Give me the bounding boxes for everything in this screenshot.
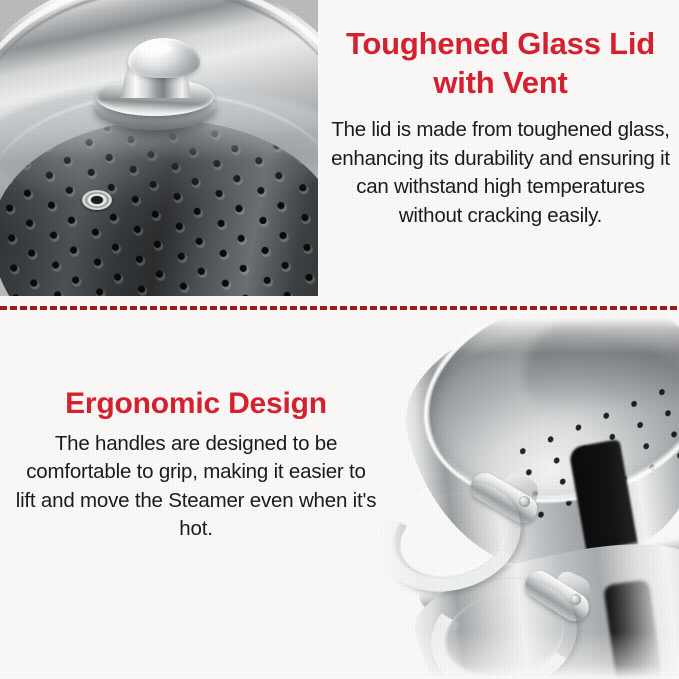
description-line-4: hot. — [0, 515, 398, 543]
panel-title-line-1: Toughened Glass Lid — [346, 26, 655, 61]
panel-description: The lid is made from toughened glass, en… — [322, 116, 679, 230]
infographic-canvas: Toughened Glass Lid with Vent The lid is… — [0, 0, 679, 679]
panel-title: Toughened Glass Lid with Vent — [322, 24, 679, 102]
panel-toughened-glass-lid: Toughened Glass Lid with Vent The lid is… — [322, 24, 679, 230]
glass-lid-photo — [0, 0, 318, 296]
steam-vent-icon — [82, 190, 112, 210]
lower-handle-rivet — [570, 594, 581, 605]
knob-highlight — [141, 42, 173, 55]
panel-title: Ergonomic Design — [0, 386, 398, 422]
dashed-separator — [0, 306, 679, 310]
steamer-handles-photo — [372, 318, 679, 679]
description-line-2: comfortable to grip, making it easier to — [0, 458, 398, 486]
panel-title-line-2: with Vent — [433, 65, 567, 100]
panel-description: The handles are designed to be comfortab… — [0, 430, 398, 544]
description-line-1: The handles are designed to be — [0, 430, 398, 458]
upper-handle-rivet — [519, 496, 530, 507]
description-line-3: lift and move the Steamer even when it's — [0, 487, 398, 515]
panel-ergonomic-design: Ergonomic Design The handles are designe… — [0, 386, 398, 544]
